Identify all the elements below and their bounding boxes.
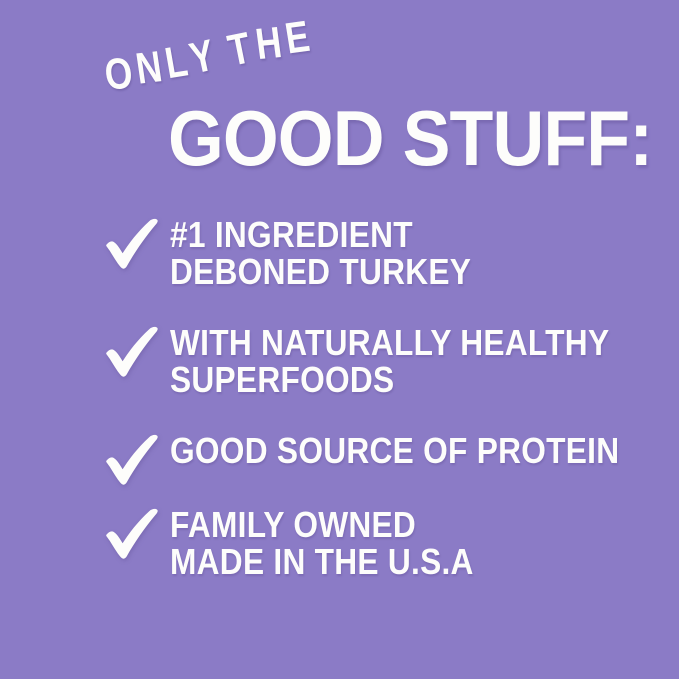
list-item-line: MADE IN THE U.S.A [170,543,618,580]
list-item: #1 INGREDIENT DEBONED TURKEY [0,214,679,291]
headline-top-char: L [162,41,190,84]
list-item-line: FAMILY OWNED [170,506,618,543]
list-item-line: GOOD SOURCE OF PROTEIN [170,432,619,469]
list-item-text: #1 INGREDIENT DEBONED TURKEY [170,214,679,291]
list-item-line: #1 INGREDIENT [170,216,618,253]
headline-top-char: Y [186,35,218,80]
headline-top-line: ONLYTHE [96,16,314,98]
promo-panel: ONLYTHE GOOD STUFF: #1 INGREDIENT DEBONE… [0,0,679,679]
headline-top-char: E [283,17,313,60]
headline-top-char: T [225,28,254,72]
checkmark-icon [104,218,160,270]
headline-top-char: O [103,54,135,95]
list-item-line: WITH NATURALLY HEALTHY [170,324,618,361]
headline-top-char: H [254,23,285,65]
checkmark-icon [104,434,160,486]
list-item-line: DEBONED TURKEY [170,253,618,290]
checkmark-icon [104,326,160,378]
headline-top-space [220,73,231,75]
list-item-line: SUPERFOODS [170,361,618,398]
headline-block: ONLYTHE GOOD STUFF: [0,0,679,195]
headline-top-char: N [134,47,165,90]
list-item-text: FAMILY OWNED MADE IN THE U.S.A [170,504,679,581]
headline-main-line: GOOD STUFF: [168,104,652,173]
list-item-text: WITH NATURALLY HEALTHY SUPERFOODS [170,322,679,399]
list-item-text: GOOD SOURCE OF PROTEIN [170,430,679,469]
list-item: GOOD SOURCE OF PROTEIN [0,430,679,486]
list-item: FAMILY OWNED MADE IN THE U.S.A [0,504,679,581]
list-item: WITH NATURALLY HEALTHY SUPERFOODS [0,322,679,399]
checkmark-icon [104,508,160,560]
